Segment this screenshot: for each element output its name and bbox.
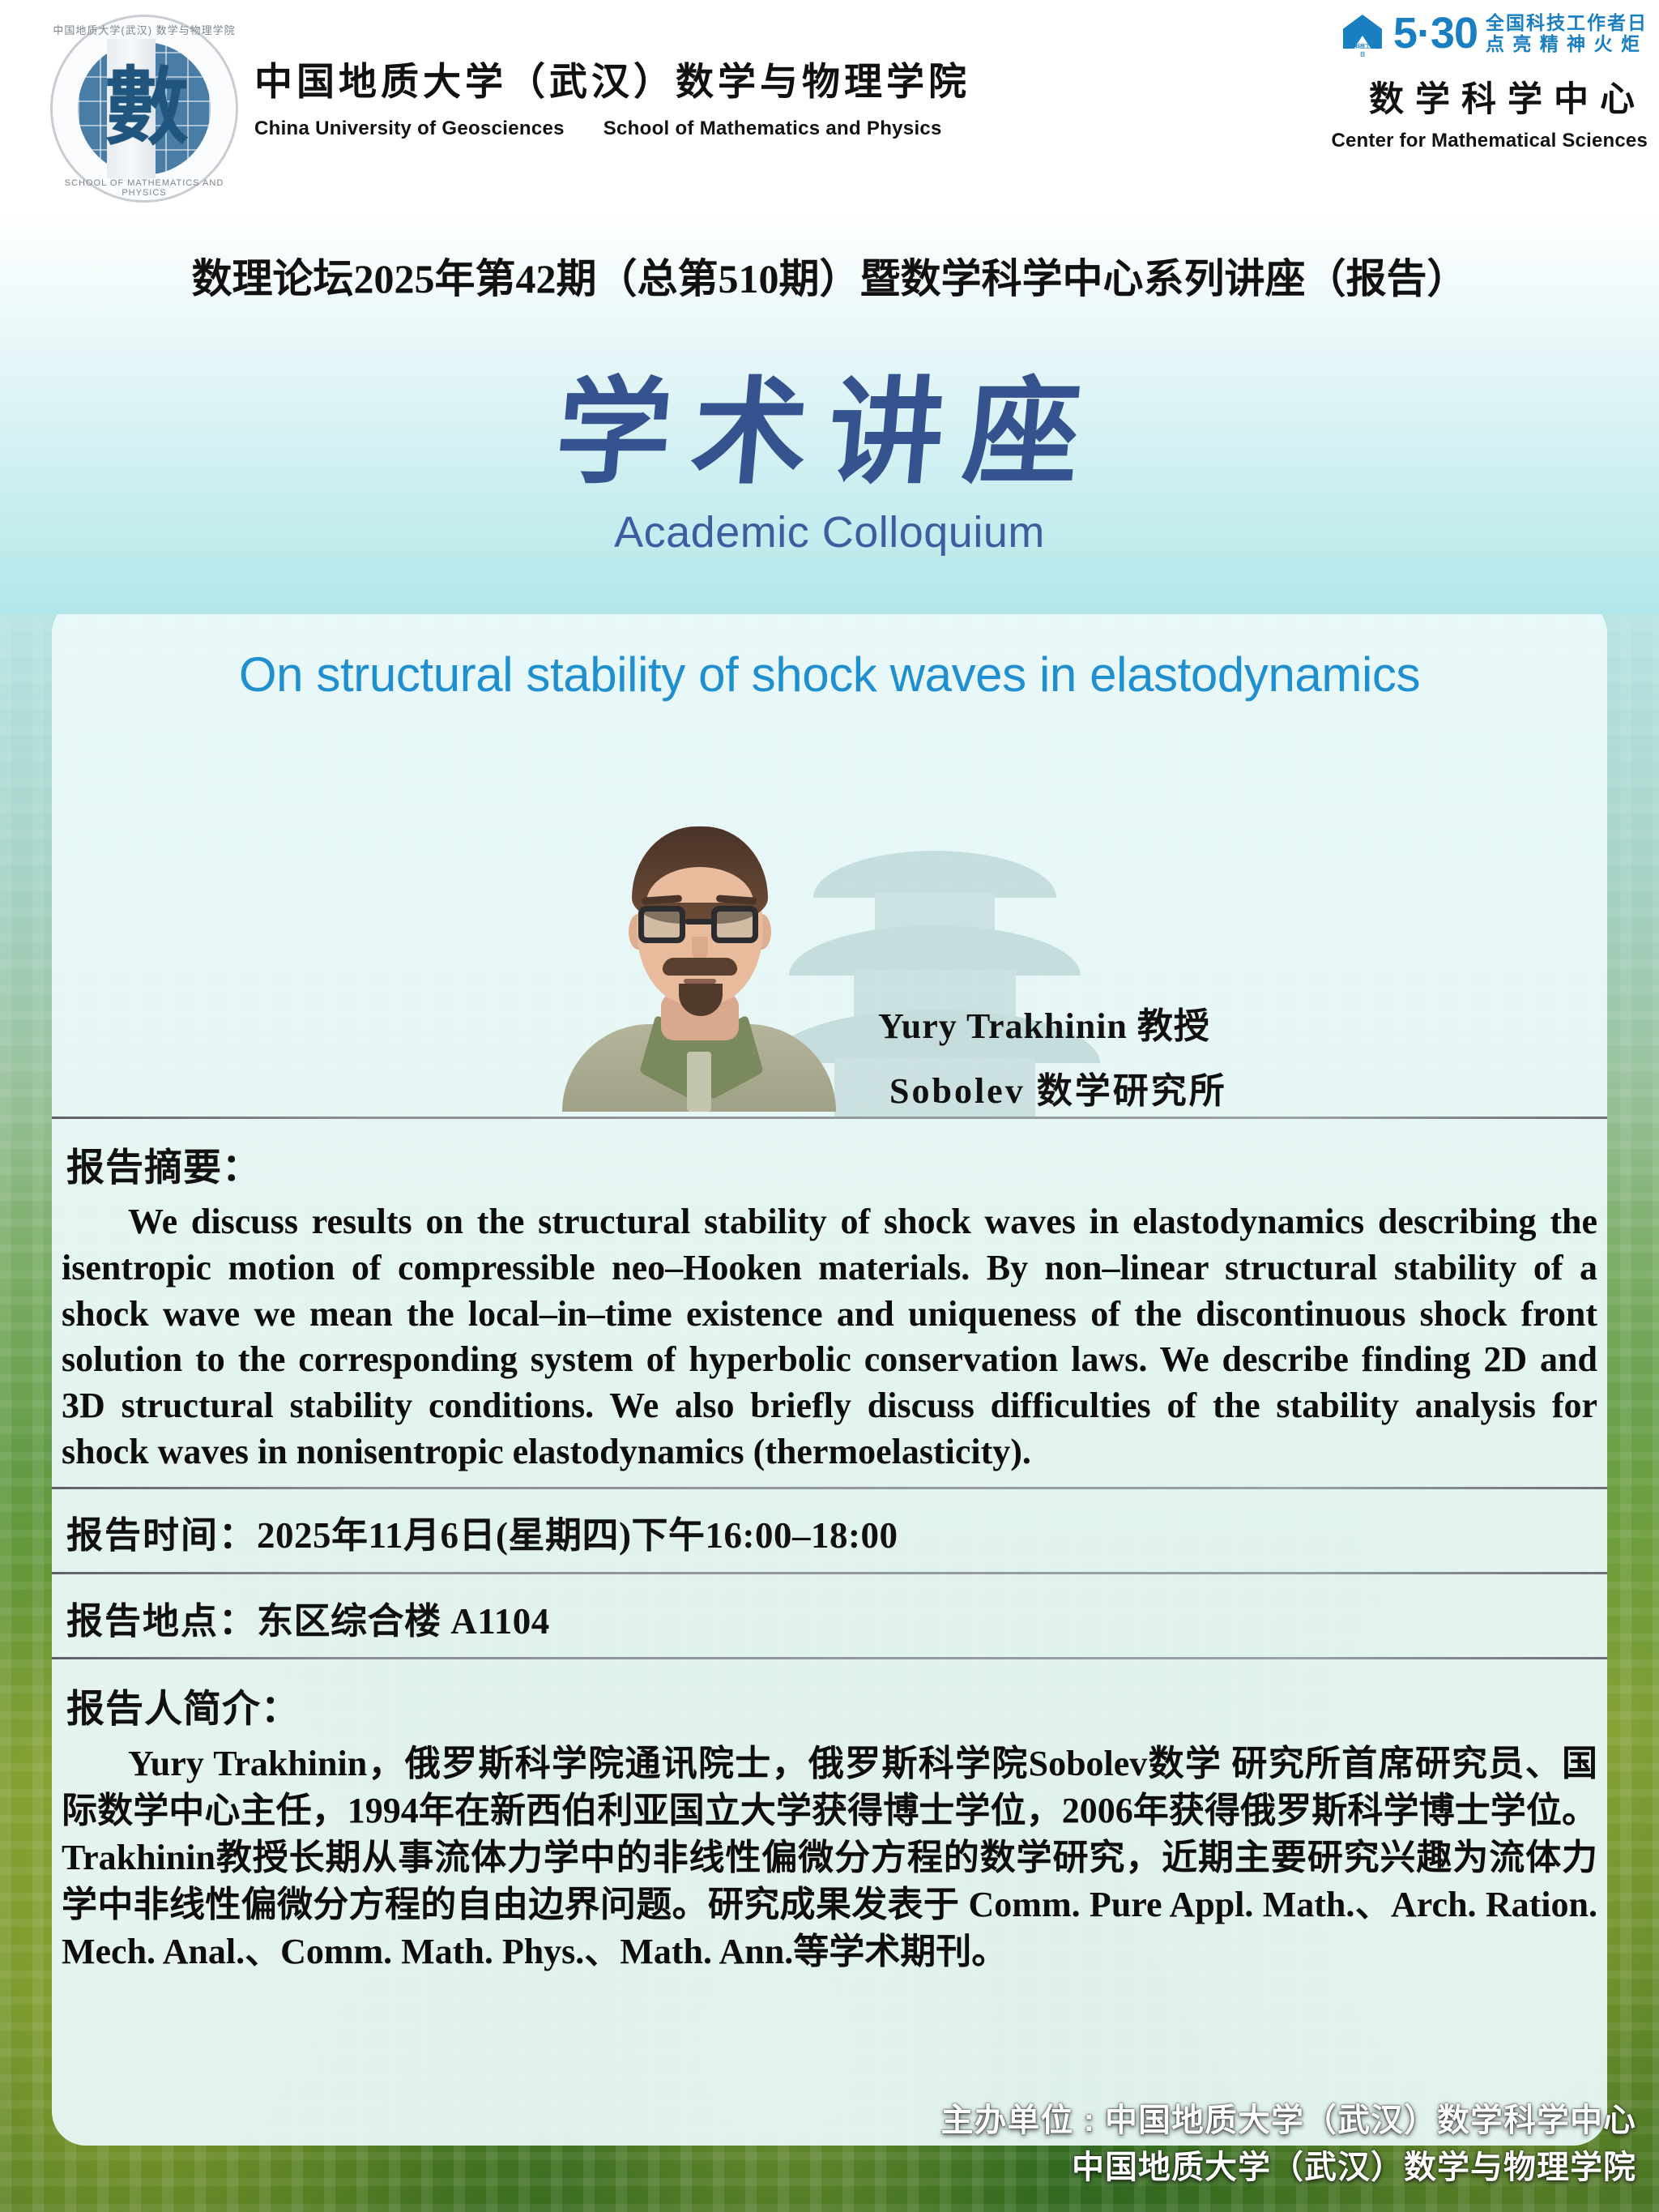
- university-name-en: China University of Geosciences: [254, 117, 565, 139]
- content-card-inner: On structural stability of shock waves i…: [52, 600, 1607, 2146]
- talk-place-label: 报告地点：: [66, 1600, 257, 1642]
- center-name-cn: 数学科学中心: [1331, 71, 1648, 122]
- day530-slogan-line2: 点 亮 精 神 火 炬: [1486, 34, 1648, 55]
- logo-arc-bottom-text: SCHOOL OF MATHEMATICS AND PHYSICS: [50, 178, 238, 198]
- school-name-cn: 中国地质大学（武汉）数学与物理学院: [254, 50, 970, 106]
- speaker-info: Yury Trakhinin 教授 Sobolev 数学研究所: [878, 997, 1494, 1113]
- talk-title: On structural stability of shock waves i…: [52, 647, 1607, 702]
- series-title: 数理论坛2025年第42期（总第510期）暨数学科学中心系列讲座（报告）: [0, 246, 1659, 305]
- speaker-affiliation: Sobolev 数学研究所: [878, 1061, 1494, 1113]
- day530-slogan-line1: 全国科技工作者日: [1486, 13, 1648, 34]
- day530-number: 5·30: [1393, 13, 1478, 54]
- divider-above-time: [52, 1487, 1607, 1489]
- logo-arc-top-text: 中国地质大学(武汉) 数学与物理学院: [50, 22, 238, 37]
- organizer-line-2: 中国地质大学（武汉）数学与物理学院: [940, 2144, 1636, 2191]
- national-science-day-logo: 全国科技工作者日 5·30 全国科技工作者日 点 亮 精 神 火 炬: [1331, 11, 1648, 57]
- talk-time-value: 2025年11月6日(星期四)下午16:00–18:00: [257, 1515, 898, 1556]
- poster-header: 數 中国地质大学(武汉) 数学与物理学院 SCHOOL OF MATHEMATI…: [0, 0, 1659, 209]
- day530-slogan: 全国科技工作者日 点 亮 精 神 火 炬: [1486, 13, 1648, 55]
- talk-place-row: 报告地点：东区综合楼 A1104: [66, 1591, 550, 1644]
- pagoda-roof-top: [813, 851, 1056, 898]
- talk-time-row: 报告时间：2025年11月6日(星期四)下午16:00–18:00: [66, 1505, 898, 1558]
- poster-title-band: 数理论坛2025年第42期（总第510期）暨数学科学中心系列讲座（报告） 学术讲…: [0, 209, 1659, 614]
- glasses-icon-bridge: [685, 919, 713, 925]
- organizer-footer: 主办单位 : 中国地质大学（武汉）数学科学中心 中国地质大学（武汉）数学与物理学…: [940, 2097, 1636, 2191]
- portrait-placket: [687, 1052, 711, 1112]
- speaker-bio-label: 报告人简介：: [66, 1677, 300, 1733]
- talk-time-label: 报告时间：: [66, 1514, 257, 1556]
- speaker-portrait: [557, 784, 841, 1108]
- portrait-moustache: [663, 958, 737, 976]
- faculty-name-en: School of Mathematics and Physics: [603, 117, 942, 139]
- brush-subtitle: Academic Colloquium: [0, 507, 1659, 557]
- divider-above-bio: [52, 1657, 1607, 1659]
- torch-icon: 全国科技工作者日: [1340, 11, 1385, 57]
- school-name-block: 中国地质大学（武汉）数学与物理学院 China University of Ge…: [254, 50, 970, 140]
- speaker-name: Yury Trakhinin 教授: [878, 997, 1494, 1048]
- university-school-logo: 數 中国地质大学(武汉) 数学与物理学院 SCHOOL OF MATHEMATI…: [50, 15, 238, 203]
- content-card: On structural stability of shock waves i…: [52, 600, 1607, 2146]
- speaker-portrait-figure: [557, 784, 841, 1108]
- talk-place-value: 东区综合楼 A1104: [257, 1601, 550, 1642]
- glasses-icon-left-lens: [638, 906, 685, 943]
- speaker-bio-text: Yury Trakhinin，俄罗斯科学院通讯院士，俄罗斯科学院Sobolev数…: [62, 1740, 1597, 1975]
- portrait-nose: [692, 937, 708, 959]
- divider-above-abstract: [52, 1117, 1607, 1119]
- school-name-en: China University of Geosciences School o…: [254, 117, 970, 140]
- torch-caption: 全国科技工作者日: [1344, 41, 1381, 58]
- logo-glyph: 數: [86, 45, 207, 173]
- brush-calligraphy-title: 学术讲座: [0, 339, 1659, 506]
- center-branding-block: 全国科技工作者日 5·30 全国科技工作者日 点 亮 精 神 火 炬 数学科学中…: [1331, 11, 1648, 152]
- glasses-icon-right-lens: [711, 906, 758, 943]
- abstract-text: We discuss results on the structural sta…: [62, 1199, 1597, 1475]
- center-name-en: Center for Mathematical Sciences: [1331, 130, 1648, 152]
- organizer-line-1: 主办单位 : 中国地质大学（武汉）数学科学中心: [940, 2097, 1636, 2144]
- divider-above-place: [52, 1572, 1607, 1574]
- abstract-label: 报告摘要：: [66, 1136, 261, 1192]
